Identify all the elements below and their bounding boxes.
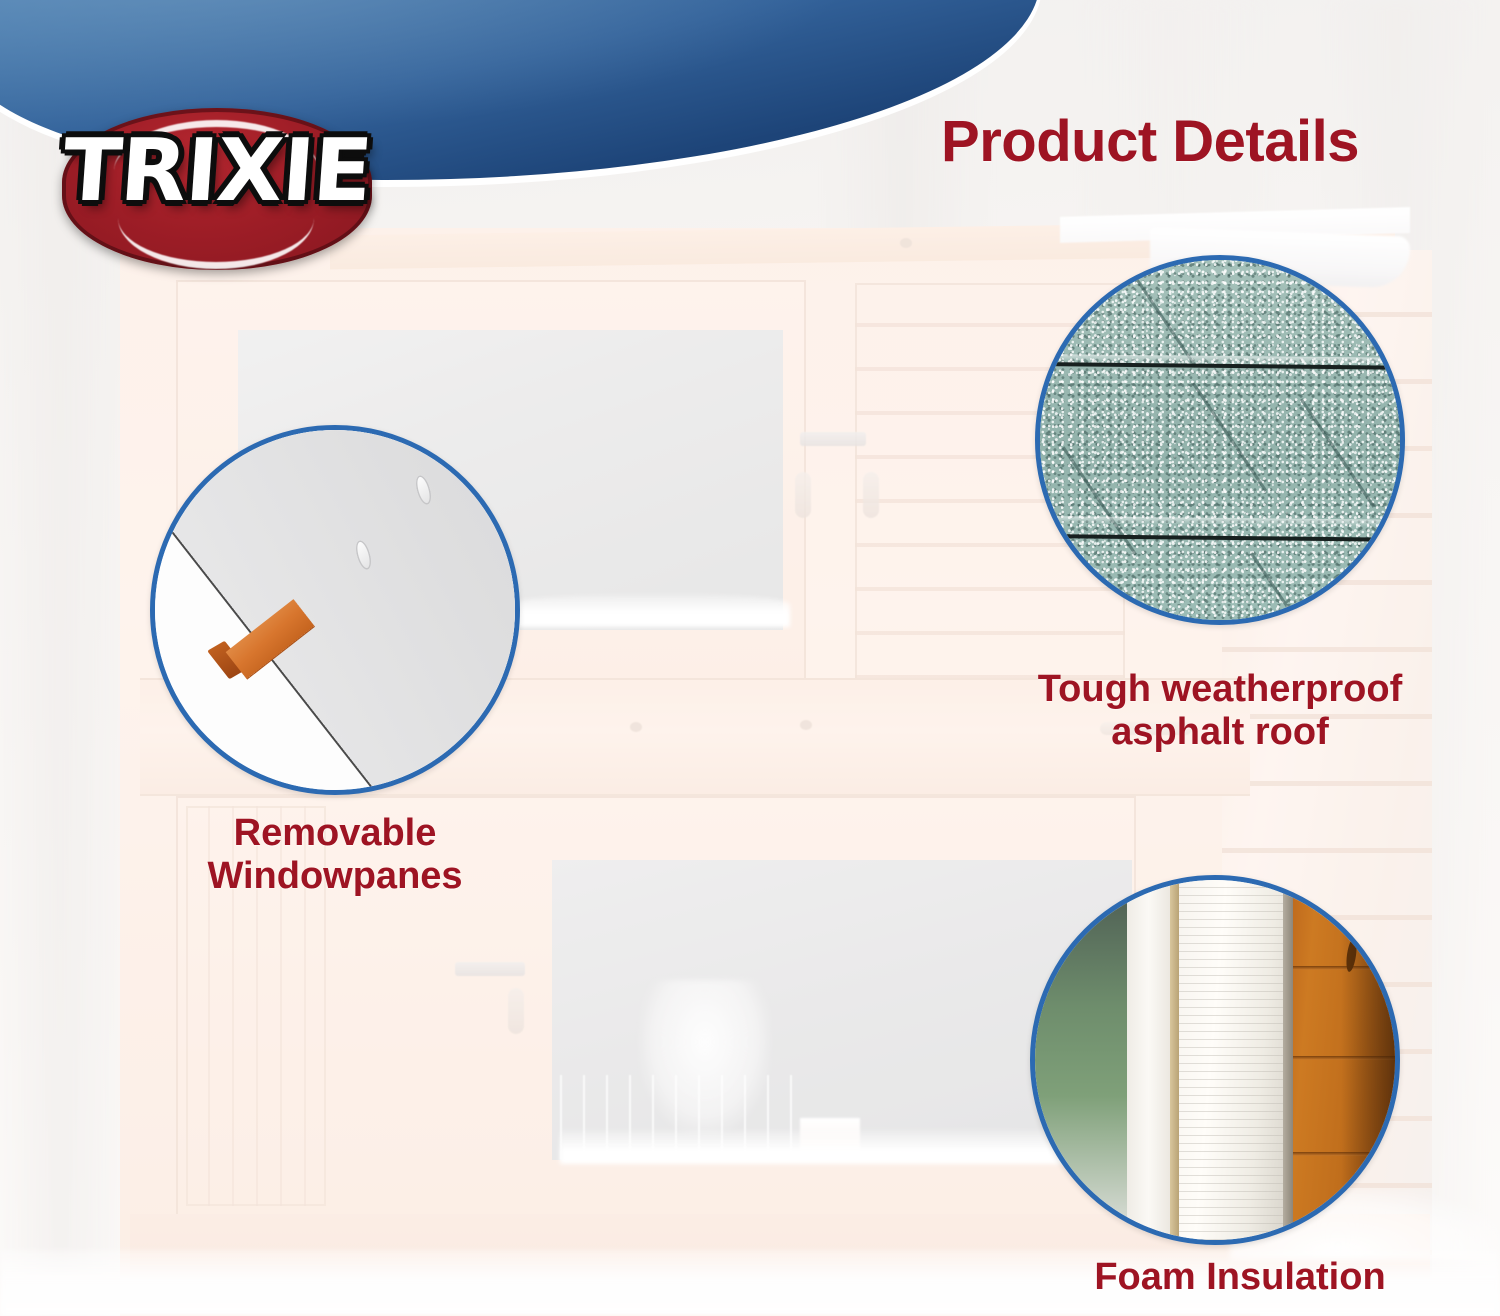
callout-label-line2: asphalt roof (950, 711, 1490, 754)
callout-label-removable-windowpanes: Removable Windowpanes (120, 812, 550, 897)
callout-label-line1: Foam Insulation (980, 1256, 1500, 1299)
page-title: Product Details (820, 108, 1480, 175)
trixie-logo[interactable]: TRIXIE (52, 100, 382, 280)
callout-label-asphalt-roof: Tough weatherproof asphalt roof (950, 668, 1490, 753)
callout-label-foam-insulation: Foam Insulation (980, 1256, 1500, 1299)
logo-wordmark: TRIXIE (49, 128, 385, 214)
callout-label-line1: Removable (120, 812, 550, 855)
product-details-infographic: TRIXIE Product Details Removable Windowp… (0, 0, 1500, 1316)
foam-edge-shadow (1283, 880, 1293, 1240)
wood-right-shadow (1341, 880, 1395, 1240)
foam-insulation-core (1179, 880, 1285, 1240)
asphalt-shingle-texture (1035, 255, 1405, 625)
thin-wood-edge (1170, 880, 1179, 1240)
callout-circle-removable-windowpanes (150, 425, 520, 795)
callout-label-line2: Windowpanes (120, 855, 550, 898)
callout-circle-foam-insulation (1030, 875, 1400, 1245)
foam-outer-layer (1127, 880, 1175, 1240)
interior-green-panel (1035, 880, 1127, 1240)
callout-circle-asphalt-roof (1035, 255, 1405, 625)
callout-label-line1: Tough weatherproof (950, 668, 1490, 711)
